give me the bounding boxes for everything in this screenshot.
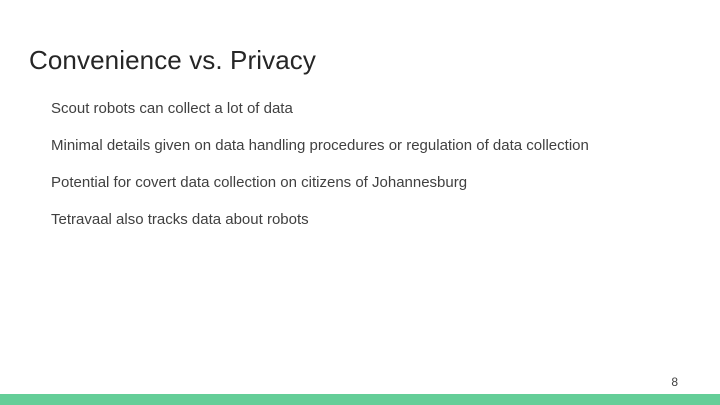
- page-title: Convenience vs. Privacy: [29, 44, 316, 76]
- list-item: Scout robots can collect a lot of data: [37, 98, 651, 120]
- footer-accent-bar: [0, 394, 720, 405]
- bullet-list: Scout robots can collect a lot of data M…: [51, 98, 651, 231]
- list-item: Tetravaal also tracks data about robots: [37, 209, 651, 231]
- page-number: 8: [671, 375, 678, 389]
- list-item: Minimal details given on data handling p…: [51, 135, 635, 157]
- list-item: Potential for covert data collection on …: [37, 172, 651, 194]
- slide: Convenience vs. Privacy Scout robots can…: [0, 0, 720, 405]
- footer-accent-fill: [0, 394, 720, 405]
